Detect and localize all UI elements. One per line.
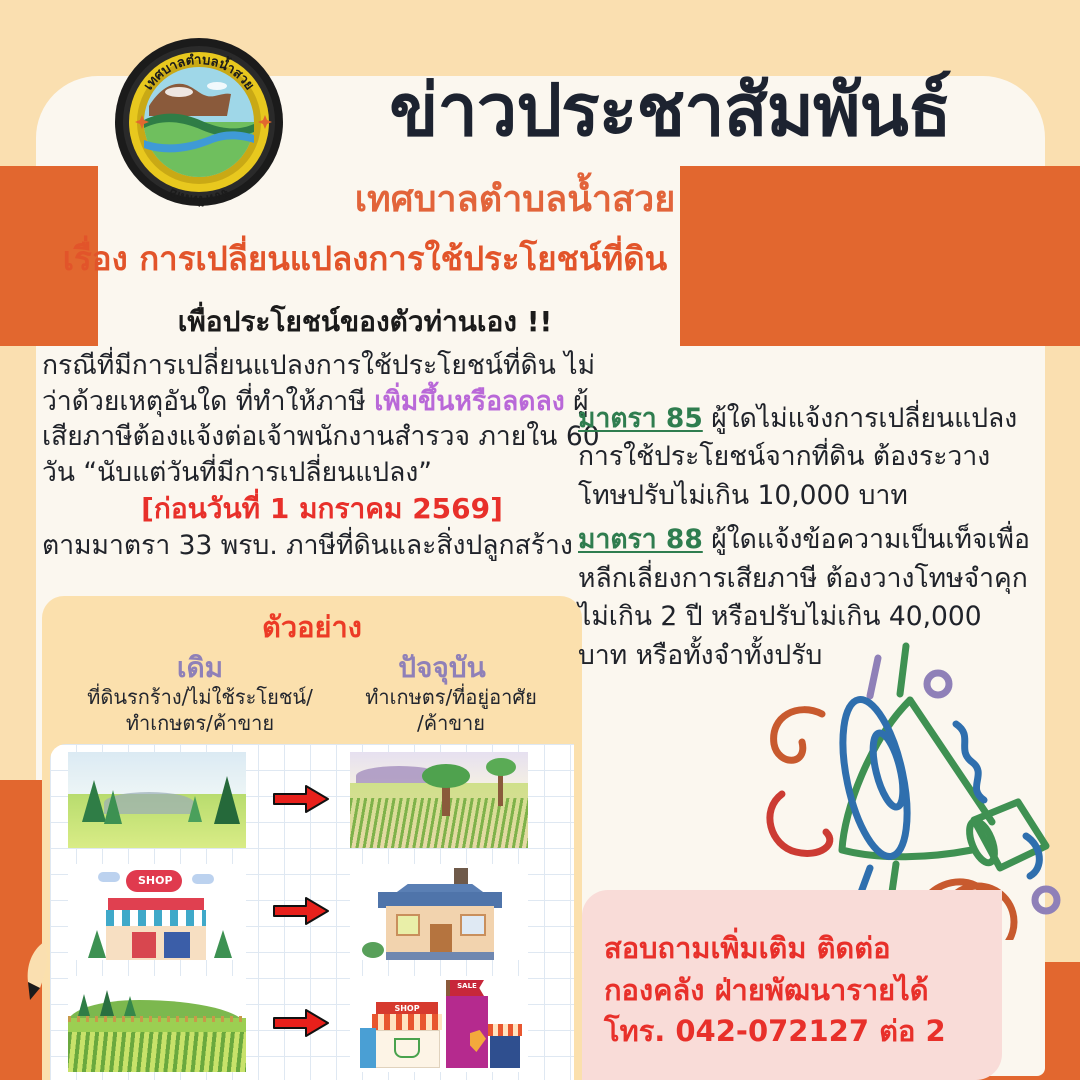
example-row: SHOP — [50, 856, 574, 968]
pencil-doodle — [18, 940, 62, 1010]
body-line-1: กรณีที่มีการเปลี่ยนแปลงการใช้ประโยชน์ที่… — [42, 350, 595, 381]
subject-line: เรื่อง การเปลี่ยนแปลงการใช้ประโยชน์ที่ดิ… — [50, 232, 680, 285]
example-row: SALE SHOP — [50, 968, 574, 1080]
right-arrow-icon — [272, 1008, 330, 1038]
right-arrow-icon — [272, 784, 330, 814]
accent-block-right — [680, 166, 1080, 346]
example-row — [50, 744, 574, 856]
example-column-desc-after: ทำเกษตร/ที่อยู่อาศัย /ค้าขาย — [342, 684, 560, 736]
example-title: ตัวอย่าง — [42, 604, 582, 650]
legal-section-85: มาตรา 85 ผู้ใดไม่แจ้งการเปลี่ยนแปลงการใช… — [578, 400, 1030, 515]
example-before-image-3 — [68, 976, 246, 1072]
section-label-85: มาตรา 85 — [578, 403, 703, 434]
example-panel: ตัวอย่าง เดิม ที่ดินรกร้าง/ไม่ใช้ระโยชน์… — [42, 596, 582, 1080]
legal-section-88: มาตรา 88 ผู้ใดแจ้งข้อความเป็นเท็จเพื่อหล… — [578, 521, 1030, 675]
example-column-desc-before: ที่ดินรกร้าง/ไม่ใช้ระโยชน์/ ทำเกษตร/ค้าข… — [66, 684, 334, 736]
contact-line-2: กองคลัง ฝ่ายพัฒนารายได้ — [604, 970, 1004, 1011]
example-after-image-2 — [350, 864, 528, 960]
tax-change-highlight: เพิ่มขึ้นหรือลดลง — [374, 386, 564, 417]
right-arrow-icon — [272, 896, 330, 926]
example-before-image-2: SHOP — [68, 864, 246, 960]
benefit-note: เพื่อประโยชน์ของตัวท่านเอง !! — [50, 300, 680, 344]
contact-info: สอบถามเพิ่มเติม ติดต่อ กองคลัง ฝ่ายพัฒนา… — [604, 928, 1004, 1052]
body-line-2-prefix: ว่าด้วยเหตุอันใด ที่ทำให้ภาษี — [42, 386, 374, 417]
contact-line-1: สอบถามเพิ่มเติม ติดต่อ — [604, 928, 1004, 969]
example-image-grid: SHOP — [50, 744, 574, 1080]
page-title: ข่าวประชาสัมพันธ์ — [300, 74, 1040, 146]
contact-line-3: โทร. 042-072127 ต่อ 2 — [604, 1011, 1004, 1052]
legal-sections: มาตรา 85 ผู้ใดไม่แจ้งการเปลี่ยนแปลงการใช… — [578, 400, 1030, 681]
example-before-image-1 — [68, 752, 246, 848]
municipal-seal-logo: เทศบาลตำบลน้ำสวย จังหวัดเลย — [113, 36, 285, 208]
deadline-badge: [ก่อนวันที่ 1 มกราคม 2569] — [42, 490, 602, 528]
body-paragraph-left: กรณีที่มีการเปลี่ยนแปลงการใช้ประโยชน์ที่… — [42, 348, 602, 563]
example-after-image-1 — [350, 752, 528, 848]
body-line-5: ตามมาตรา 33 พรบ. ภาษีที่ดินและสิ่งปลูกสร… — [42, 530, 573, 561]
organization-name: เทศบาลตำบลน้ำสวย — [300, 170, 730, 227]
announcement-poster: เทศบาลตำบลน้ำสวย จังหวัดเลย ข่าวประชาสัม… — [0, 0, 1080, 1080]
section-label-88: มาตรา 88 — [578, 524, 703, 555]
example-after-image-3: SALE SHOP — [350, 976, 528, 1072]
